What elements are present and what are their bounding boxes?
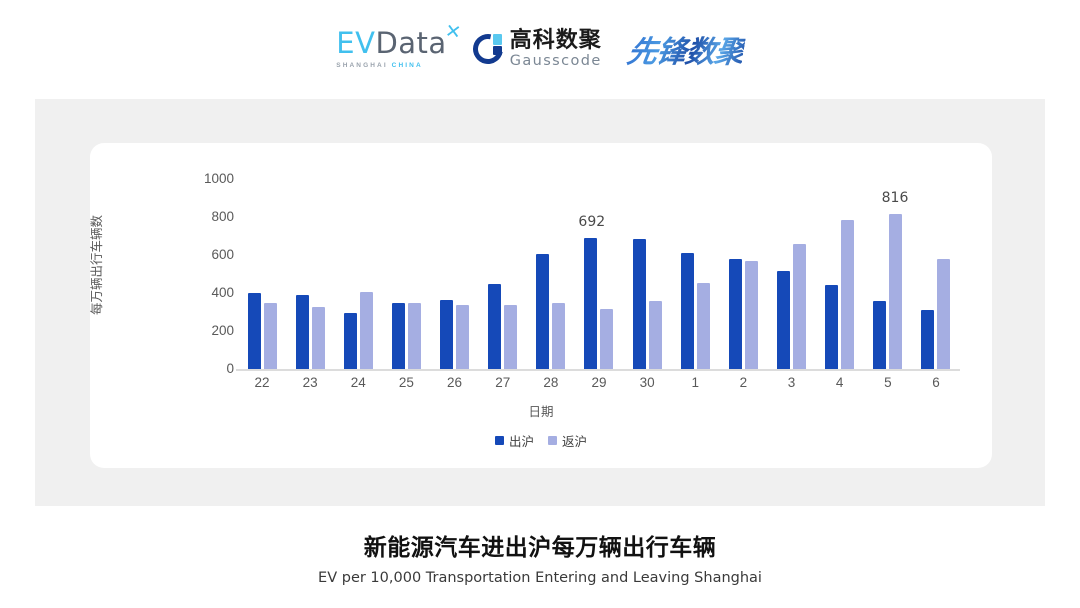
bar-return[interactable]	[504, 305, 517, 369]
bar-group[interactable]	[772, 179, 812, 369]
x-tick-29: 29	[579, 375, 619, 390]
bar-group[interactable]	[675, 179, 715, 369]
bar-return[interactable]	[745, 261, 758, 369]
bar-group[interactable]	[242, 179, 282, 369]
bar-out[interactable]	[584, 238, 597, 369]
bar-return[interactable]	[264, 303, 277, 369]
y-tick-0: 0	[188, 361, 234, 376]
bar-return[interactable]	[889, 214, 902, 369]
bar-return[interactable]	[312, 307, 325, 369]
evdata-city: SHANGHAI	[336, 62, 391, 69]
gausscode-en-text: Gausscode	[510, 54, 602, 69]
x-tick-5: 5	[868, 375, 908, 390]
bar-return[interactable]	[937, 259, 950, 369]
x-tick-25: 25	[386, 375, 426, 390]
slide-root: EVData ✕ SHANGHAI CHINA 高科数聚 Gausscode 先…	[0, 0, 1080, 608]
bar-return[interactable]	[649, 301, 662, 369]
x-tick-30: 30	[627, 375, 667, 390]
x-axis-ticks: 222324252627282930123456	[242, 375, 956, 390]
bar-out[interactable]	[921, 310, 934, 369]
bar-return[interactable]	[456, 305, 469, 369]
x-tick-4: 4	[820, 375, 860, 390]
y-tick-800: 800	[188, 209, 234, 224]
bar-out[interactable]	[825, 285, 838, 369]
y-tick-600: 600	[188, 247, 234, 262]
gausscode-cn-text: 高科数聚	[510, 30, 602, 52]
caption-block: 新能源汽车进出沪每万辆出行车辆 EV per 10,000 Transporta…	[0, 528, 1080, 586]
x-tick-1: 1	[675, 375, 715, 390]
evdata-data-text: Data	[375, 26, 446, 60]
bar-out[interactable]	[873, 301, 886, 369]
bar-group[interactable]	[627, 179, 667, 369]
bar-out[interactable]	[681, 253, 694, 369]
bar-group[interactable]	[386, 179, 426, 369]
caption-subtitle-en: EV per 10,000 Transportation Entering an…	[0, 570, 1080, 586]
x-tick-6: 6	[916, 375, 956, 390]
bar-return[interactable]	[697, 283, 710, 369]
logo-bar: EVData ✕ SHANGHAI CHINA 高科数聚 Gausscode 先…	[0, 18, 1080, 80]
bar-return[interactable]	[841, 220, 854, 369]
x-tick-28: 28	[531, 375, 571, 390]
bar-out[interactable]	[488, 284, 501, 370]
xianfeng-wordmark: 先锋数聚	[624, 27, 747, 71]
bar-value-label: 692	[578, 214, 605, 230]
x-tick-3: 3	[772, 375, 812, 390]
chart-outer-panel: 每万辆出行车辆数 10008006004002000 692816 222324…	[35, 99, 1045, 506]
bar-out[interactable]	[536, 254, 549, 369]
legend-item-out[interactable]: 出沪	[495, 431, 534, 450]
bar-group[interactable]	[338, 179, 378, 369]
x-tick-26: 26	[435, 375, 475, 390]
evdata-ev-text: EV	[336, 26, 375, 60]
bar-out[interactable]	[344, 313, 357, 369]
bar-value-label: 816	[882, 190, 909, 206]
bar-return[interactable]	[793, 244, 806, 369]
x-axis-line	[236, 369, 960, 371]
bar-group[interactable]	[290, 179, 330, 369]
logo-evdata: EVData ✕ SHANGHAI CHINA	[336, 29, 446, 69]
evdata-country: CHINA	[392, 62, 423, 69]
legend-item-return[interactable]: 返沪	[548, 431, 587, 450]
logo-xianfeng: 先锋数聚	[628, 27, 744, 71]
bar-out[interactable]	[392, 303, 405, 370]
bar-chart: 每万辆出行车辆数 10008006004002000 692816 222324…	[90, 143, 992, 468]
legend-label-out: 出沪	[509, 431, 534, 450]
y-tick-400: 400	[188, 285, 234, 300]
bar-out[interactable]	[296, 295, 309, 369]
x-tick-22: 22	[242, 375, 282, 390]
y-axis-label: 每万辆出行车辆数	[86, 185, 105, 345]
bar-group[interactable]: 816	[868, 179, 908, 369]
chart-legend: 出沪 返沪	[90, 431, 992, 450]
gausscode-mark-icon	[473, 34, 503, 64]
legend-swatch-out-icon	[495, 436, 504, 445]
x-tick-27: 27	[483, 375, 523, 390]
x-axis-label: 日期	[90, 401, 992, 420]
x-tick-24: 24	[338, 375, 378, 390]
bar-out[interactable]	[633, 239, 646, 369]
y-tick-200: 200	[188, 323, 234, 338]
bar-groups: 692816	[242, 179, 956, 369]
logo-gausscode: 高科数聚 Gausscode	[473, 30, 602, 69]
bar-return[interactable]	[600, 309, 613, 369]
x-tick-23: 23	[290, 375, 330, 390]
evdata-tagline: SHANGHAI CHINA	[336, 62, 422, 69]
x-tick-2: 2	[723, 375, 763, 390]
x-icon: ✕	[444, 22, 463, 43]
legend-label-return: 返沪	[562, 431, 587, 450]
bar-out[interactable]	[777, 271, 790, 369]
plot-area: 692816	[242, 179, 956, 369]
bar-out[interactable]	[440, 300, 453, 369]
bar-group[interactable]	[483, 179, 523, 369]
bar-return[interactable]	[360, 292, 373, 369]
caption-title-cn: 新能源汽车进出沪每万辆出行车辆	[0, 528, 1080, 562]
chart-card: 每万辆出行车辆数 10008006004002000 692816 222324…	[90, 143, 992, 468]
bar-group[interactable]	[820, 179, 860, 369]
legend-swatch-return-icon	[548, 436, 557, 445]
y-tick-1000: 1000	[188, 171, 234, 186]
bar-out[interactable]	[248, 293, 261, 369]
bar-group[interactable]	[916, 179, 956, 369]
bar-out[interactable]	[729, 259, 742, 369]
bar-return[interactable]	[552, 303, 565, 369]
bar-group[interactable]	[435, 179, 475, 369]
bar-group[interactable]	[531, 179, 571, 369]
bar-group[interactable]: 692	[579, 179, 619, 369]
bar-group[interactable]	[723, 179, 763, 369]
evdata-wordmark: EVData ✕	[336, 29, 446, 58]
bar-return[interactable]	[408, 303, 421, 369]
